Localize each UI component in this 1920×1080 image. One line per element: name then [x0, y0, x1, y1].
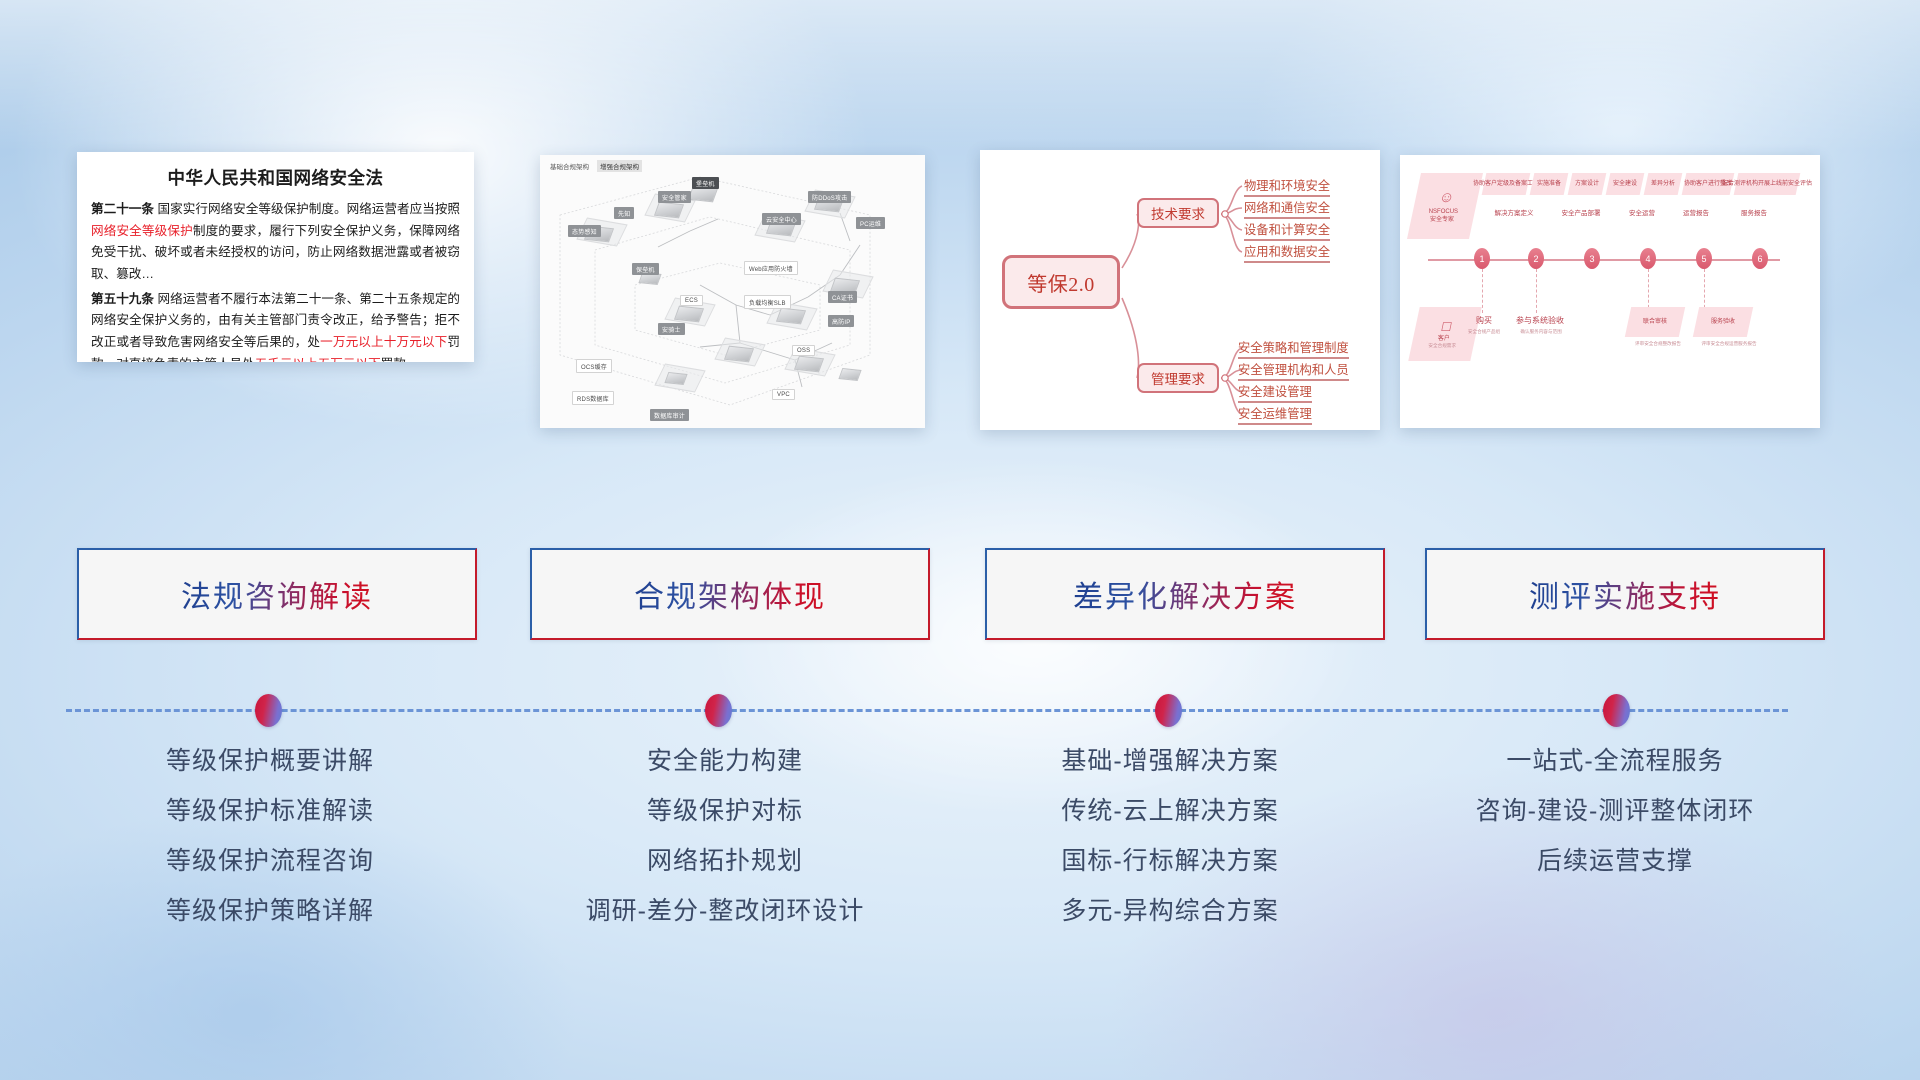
architecture-box-icon [838, 368, 861, 381]
nsfocus-top-chip: 实施准备 [1530, 173, 1569, 195]
architecture-node: CA证书 [828, 291, 857, 303]
nsfocus-top-chip-label: 配合测评机构开展上线前安全评估 [1722, 180, 1812, 188]
mindmap-branch-technical: 技术要求 [1137, 198, 1219, 228]
nsfocus-client-sub: 安全合规需求 [1429, 343, 1457, 349]
nsfocus-bottom-item: 联合审核 [1643, 318, 1667, 326]
mindmap-leaf: 应用和数据安全 [1244, 242, 1330, 263]
architecture-node: 负载均衡SLB [744, 295, 791, 309]
architecture-node: VPC [772, 389, 795, 400]
law-article-21: 第二十一条 国家实行网络安全等级保护制度。网络运营者应当按照网络安全等级保护制度… [91, 199, 460, 286]
client-icon: ☐ [1439, 319, 1453, 335]
mindmap-leaf: 设备和计算安全 [1244, 220, 1330, 241]
list-item: 等级保护对标 [647, 790, 803, 832]
list-item: 多元-异构综合方案 [1061, 890, 1278, 932]
header-box-compliance-architecture[interactable]: 合规架构体现 [530, 548, 930, 640]
timeline-marker-2[interactable] [705, 694, 732, 727]
nsfocus-phase-label: 服务报告 [1730, 207, 1778, 217]
nsfocus-top-chip-label: 安全建设 [1613, 180, 1637, 188]
card-cybersecurity-law: 中华人民共和国网络安全法 第二十一条 国家实行网络安全等级保护制度。网络运营者应… [77, 152, 474, 362]
list-item: 后续运营支撑 [1537, 840, 1693, 882]
law-article-59-text3: 罚款。 [381, 357, 419, 362]
card-nsfocus-process: ☺ NSFOCUS 安全专家 协助客户定级及备案工作 实施准备 方案设计 安全建… [1400, 155, 1820, 428]
nsfocus-bottom-sub: 安全合规产品组 [1456, 329, 1512, 335]
timeline-marker-4[interactable] [1603, 694, 1630, 727]
header-title: 测评实施支持 [1529, 572, 1721, 616]
card-mindmap-dengbao: 等保2.0 技术要求 管理要求 物理和环境安全 网络和通信安全 设备和计算安全 … [980, 150, 1380, 430]
timeline-marker-1[interactable] [255, 694, 282, 727]
mindmap-branch-management: 管理要求 [1137, 363, 1219, 393]
architecture-box-icon [724, 346, 754, 363]
card-compliance-architecture: 基础合规架构 增强合规架构 [540, 155, 925, 428]
nsfocus-top-chip-label: 协助客户定级及备案工作 [1473, 180, 1539, 188]
list-item: 等级保护标准解读 [166, 790, 374, 832]
architecture-node: 数据库审计 [650, 409, 689, 421]
nsfocus-brand: NSFOCUS [1429, 208, 1458, 216]
nsfocus-step: 2 [1528, 248, 1544, 269]
mindmap-leaf: 安全管理机构和人员 [1238, 360, 1349, 381]
nsfocus-brand-chip: ☺ NSFOCUS 安全专家 [1407, 173, 1483, 239]
nsfocus-bottom-sub: 评审安全合规运营服务报告 [1686, 341, 1772, 347]
law-article-59-highlight-2: 五千元以上五万元以下 [255, 357, 381, 362]
timeline-marker-3[interactable] [1155, 694, 1182, 727]
header-box-regulation-consulting[interactable]: 法规咨询解读 [77, 548, 477, 640]
list-item: 等级保护策略详解 [166, 890, 374, 932]
mindmap-leaf: 安全建设管理 [1238, 382, 1312, 403]
architecture-box-icon [776, 308, 806, 325]
architecture-node: 安骑士 [658, 323, 685, 335]
nsfocus-brand-sub: 安全专家 [1430, 216, 1454, 224]
list-item: 基础-增强解决方案 [1061, 740, 1278, 782]
list-item: 网络拓扑规划 [647, 840, 803, 882]
nsfocus-phase-label: 解决方案定义 [1484, 207, 1544, 217]
header-title: 差异化解决方案 [1073, 572, 1297, 616]
list-item: 等级保护概要讲解 [166, 740, 374, 782]
list-item: 一站式-全流程服务 [1506, 740, 1723, 782]
detail-column-regulation-consulting: 等级保护概要讲解 等级保护标准解读 等级保护流程咨询 等级保护策略详解 [55, 740, 485, 932]
architecture-node: 态势感知 [568, 225, 601, 237]
nsfocus-top-chip: 配合测评机构开展上线前安全评估 [1734, 173, 1801, 195]
architecture-connectors [540, 155, 925, 428]
nsfocus-bottom-item: 参与系统验收 [1516, 315, 1564, 326]
nsfocus-step: 6 [1752, 248, 1768, 269]
nsfocus-step: 4 [1640, 248, 1656, 269]
law-article-59-label: 第五十九条 [91, 292, 154, 306]
nsfocus-connector [1536, 269, 1537, 313]
architecture-node: Web应用防火墙 [744, 261, 798, 275]
nsfocus-top-chip-label: 差异分析 [1651, 180, 1675, 188]
nsfocus-bottom-item: 购买 [1462, 315, 1506, 326]
nsfocus-top-chip: 差异分析 [1644, 173, 1683, 195]
architecture-node: PC运维 [856, 217, 885, 229]
nsfocus-top-chip: 方案设计 [1568, 173, 1607, 195]
header-title: 合规架构体现 [634, 572, 826, 616]
architecture-node: ECS [680, 295, 703, 306]
mindmap: 等保2.0 技术要求 管理要求 物理和环境安全 网络和通信安全 设备和计算安全 … [980, 150, 1380, 430]
law-document: 中华人民共和国网络安全法 第二十一条 国家实行网络安全等级保护制度。网络运营者应… [77, 152, 474, 362]
detail-column-assessment-support: 一站式-全流程服务 咨询-建设-测评整体闭环 后续运营支撑 [1400, 740, 1830, 882]
nsfocus-top-chip: 协助客户定级及备案工作 [1482, 173, 1531, 195]
architecture-node: 云安全中心 [762, 213, 801, 225]
nsfocus-phase-label: 安全运营 [1618, 207, 1666, 217]
architecture-node: OSS [792, 345, 815, 356]
nsfocus-top-chip-label: 实施准备 [1537, 180, 1561, 188]
list-item: 等级保护流程咨询 [166, 840, 374, 882]
nsfocus-phase-label: 运营报告 [1672, 207, 1720, 217]
architecture-node: OCS缓存 [576, 359, 612, 373]
timeline [0, 690, 1920, 730]
mindmap-leaf: 网络和通信安全 [1244, 198, 1330, 219]
list-item: 咨询-建设-测评整体闭环 [1476, 790, 1755, 832]
header-box-assessment-support[interactable]: 测评实施支持 [1425, 548, 1825, 640]
mindmap-leaf: 物理和环境安全 [1244, 176, 1330, 197]
architecture-node: 安全管家 [658, 191, 691, 203]
detail-column-differentiated-solution: 基础-增强解决方案 传统-云上解决方案 国标-行标解决方案 多元-异构综合方案 [955, 740, 1385, 932]
nsfocus-bottom-sub: 确认服务内容与范围 [1510, 329, 1572, 335]
nsfocus-top-chip: 安全建设 [1606, 173, 1645, 195]
architecture-node: RDS数据库 [572, 391, 614, 405]
architecture-box-icon [654, 202, 684, 219]
list-item: 调研-差分-整改闭环设计 [586, 890, 865, 932]
law-article-21-text1: 国家实行网络安全等级保护制度。网络运营者应当按照 [154, 202, 460, 216]
person-star-icon: ☺ [1437, 188, 1457, 208]
nsfocus-connector [1482, 269, 1483, 313]
header-title: 法规咨询解读 [181, 572, 373, 616]
nsfocus-timeline: ☺ NSFOCUS 安全专家 协助客户定级及备案工作 实施准备 方案设计 安全建… [1400, 155, 1820, 428]
list-item: 安全能力构建 [647, 740, 803, 782]
nsfocus-client-label: 客户 [1438, 335, 1450, 343]
mindmap-leaf: 安全策略和管理制度 [1238, 338, 1349, 359]
architecture-node: 保垒机 [632, 263, 659, 275]
card-row: 中华人民共和国网络安全法 第二十一条 国家实行网络安全等级保护制度。网络运营者应… [0, 0, 1920, 440]
law-article-59-highlight-1: 一万元以上十万元以下 [320, 335, 447, 349]
law-title: 中华人民共和国网络安全法 [91, 165, 460, 190]
architecture-node: 高防IP [828, 315, 854, 327]
mindmap-leaf: 安全运维管理 [1238, 404, 1312, 425]
header-box-differentiated-solution[interactable]: 差异化解决方案 [985, 548, 1385, 640]
nsfocus-bottom-chip: 联合审核 [1625, 307, 1685, 337]
header-row: 法规咨询解读 合规架构体现 差异化解决方案 测评实施支持 [0, 548, 1920, 648]
nsfocus-bottom-chip: 服务验收 [1693, 307, 1753, 337]
nsfocus-top-chip-label: 方案设计 [1575, 180, 1599, 188]
nsfocus-step: 1 [1474, 248, 1490, 269]
detail-list-row: 等级保护概要讲解 等级保护标准解读 等级保护流程咨询 等级保护策略详解 安全能力… [0, 740, 1920, 1060]
architecture-box-icon [674, 306, 704, 323]
nsfocus-bottom-item: 服务验收 [1711, 318, 1735, 326]
timeline-dashed-line [66, 709, 1788, 712]
detail-column-compliance-architecture: 安全能力构建 等级保护对标 网络拓扑规划 调研-差分-整改闭环设计 [510, 740, 940, 932]
architecture-node: 堡垒机 [692, 177, 719, 189]
nsfocus-phase-label: 安全产品部署 [1550, 207, 1612, 217]
architecture-diagram: 基础合规架构 增强合规架构 [540, 155, 925, 428]
mindmap-center-node: 等保2.0 [1002, 255, 1120, 309]
architecture-node: 防DDoS攻击 [808, 191, 851, 203]
nsfocus-step: 5 [1696, 248, 1712, 269]
list-item: 传统-云上解决方案 [1061, 790, 1278, 832]
law-article-21-highlight: 网络安全等级保护 [91, 224, 193, 238]
law-article-59: 第五十九条 网络运营者不履行本法第二十一条、第二十五条规定的网络安全保护义务的，… [91, 289, 460, 362]
architecture-box-icon [794, 356, 824, 373]
nsfocus-step: 3 [1584, 248, 1600, 269]
list-item: 国标-行标解决方案 [1061, 840, 1278, 882]
architecture-node: 先知 [614, 207, 634, 219]
law-article-21-label: 第二十一条 [91, 202, 154, 216]
architecture-box-icon [664, 372, 687, 385]
